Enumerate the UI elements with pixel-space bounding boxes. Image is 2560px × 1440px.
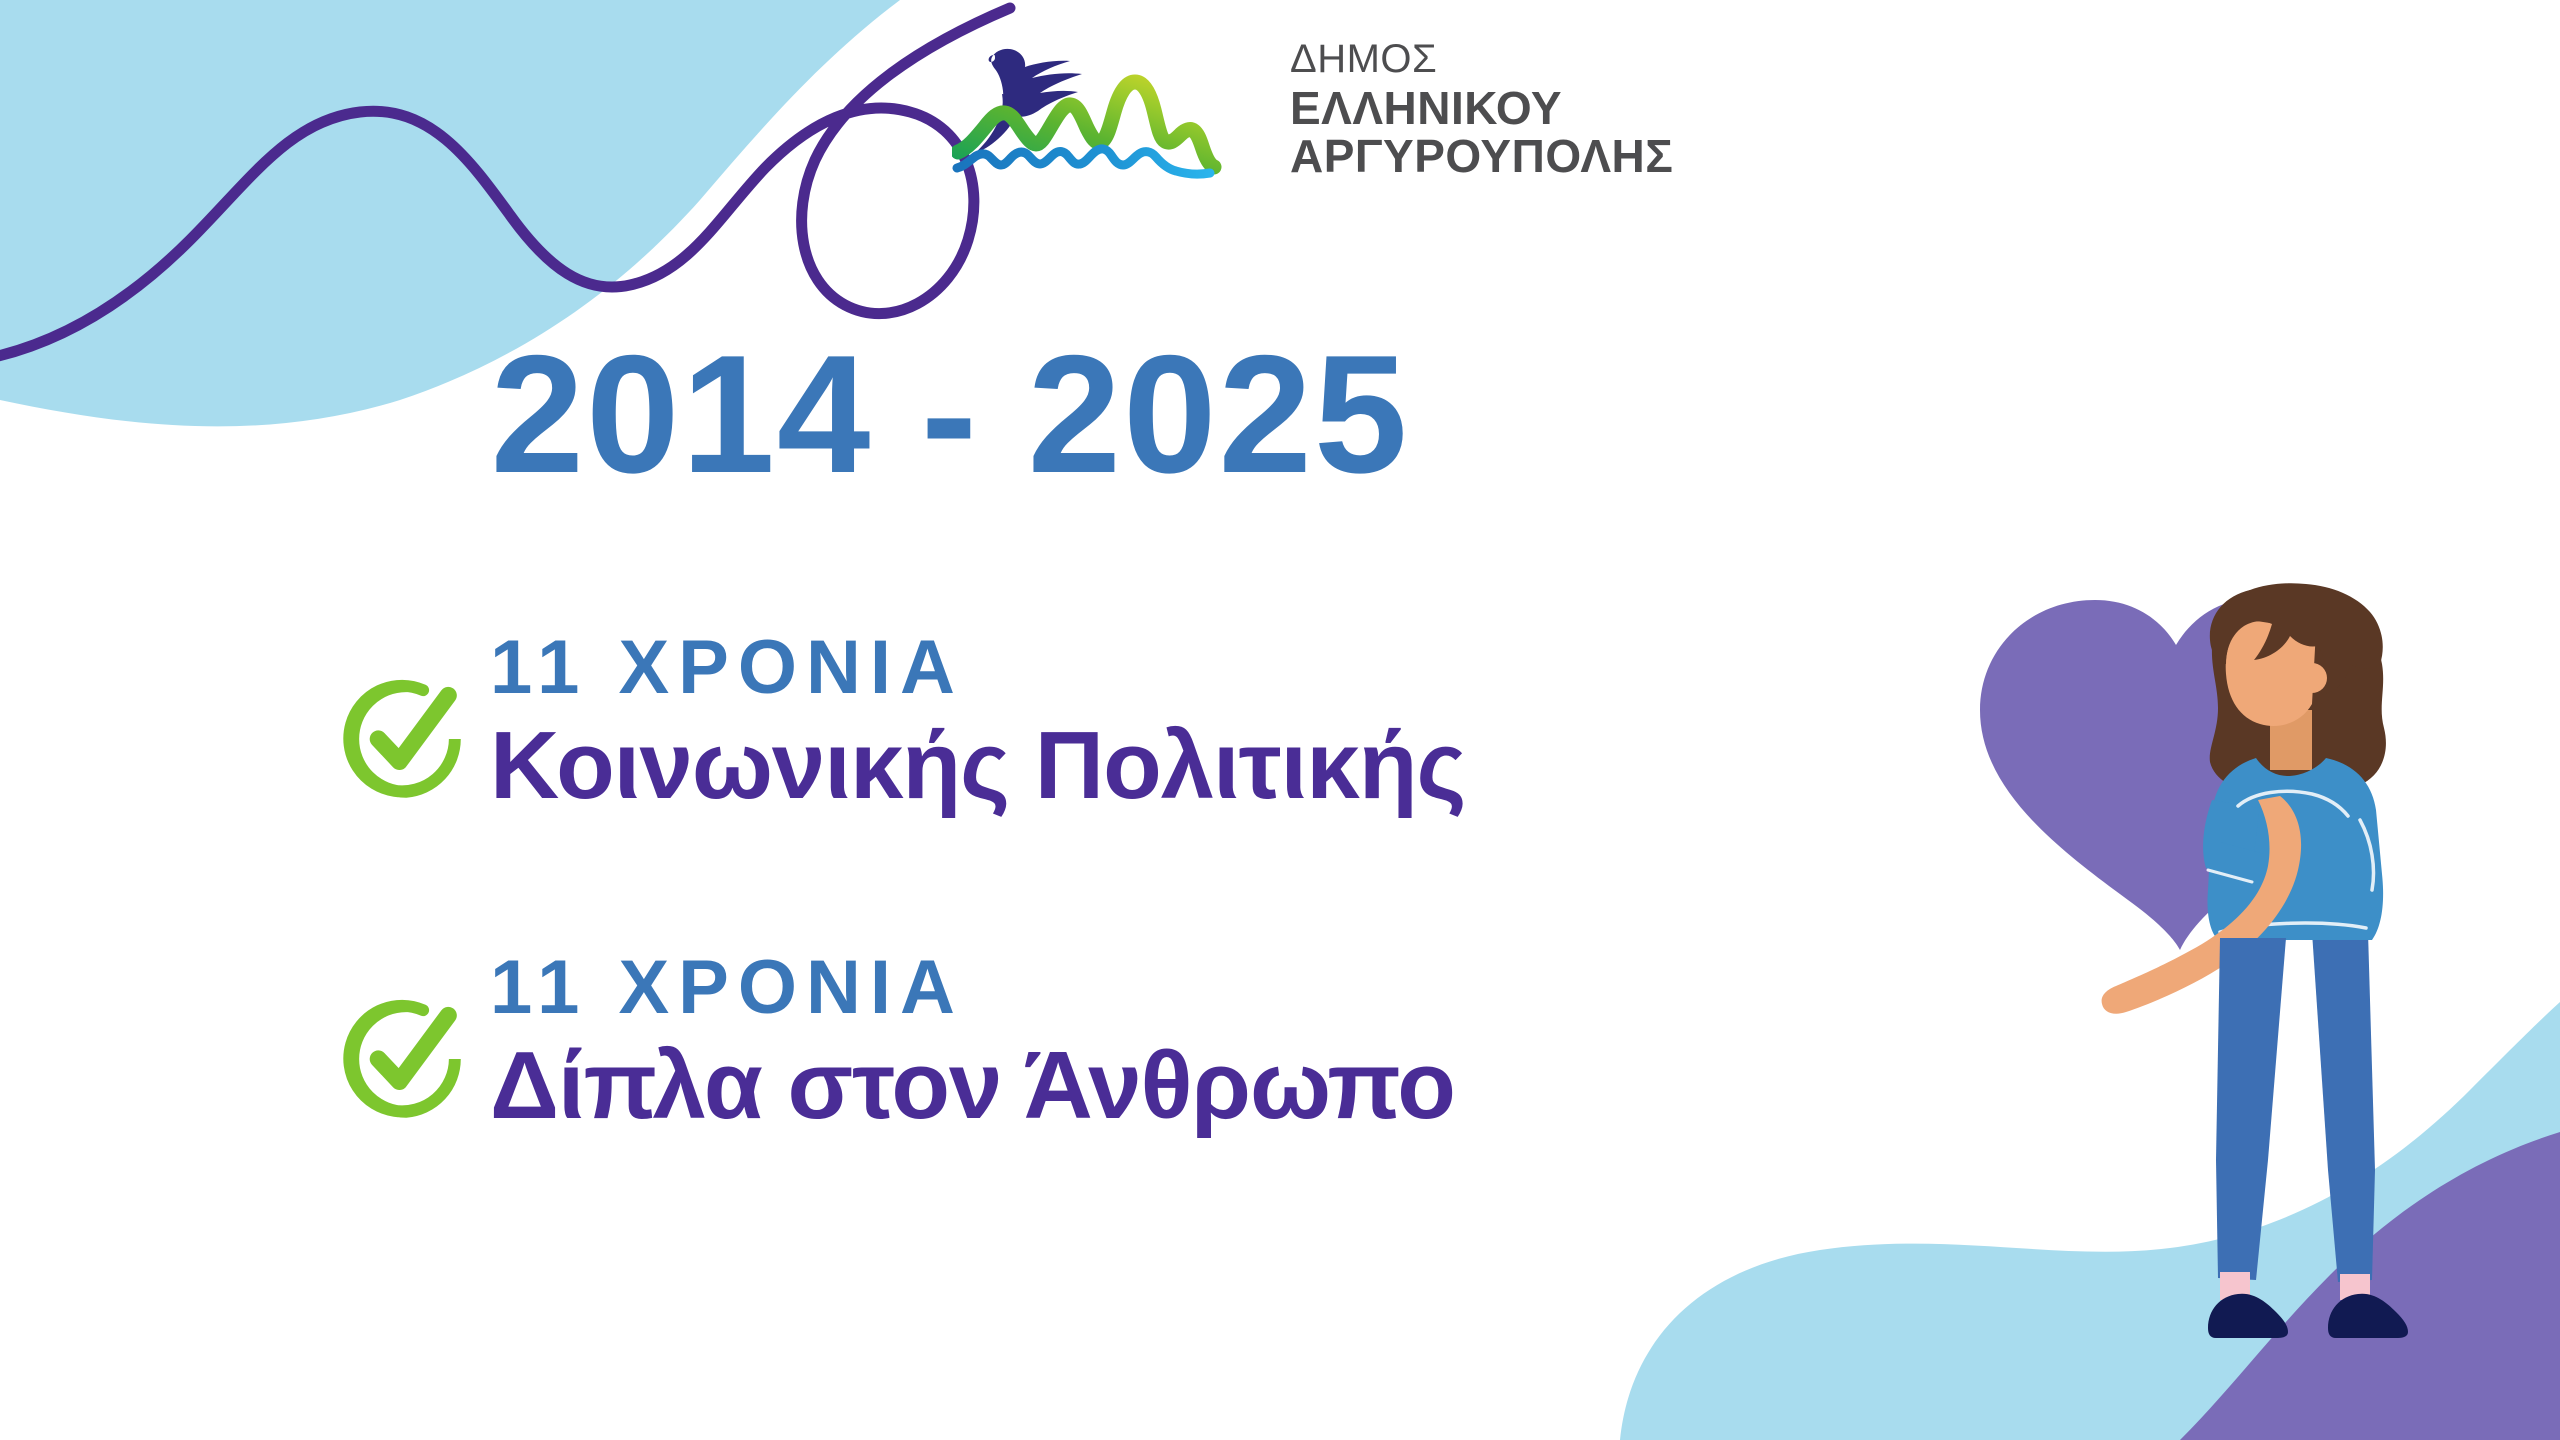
pants-front-leg — [2216, 938, 2286, 1280]
green-check-circle-icon — [340, 673, 472, 805]
woman-holding-heart-illustration — [1920, 470, 2560, 1370]
logo-wordmark: ΔΗΜΟΣ ΕΛΛΗΝΙΚΟΥ ΑΡΓΥΡΟΥΠΟΛΗΣ — [1290, 39, 1673, 179]
bullet-row: 11 ΧΡΟΝΙΑ Δίπλα στον Άνθρωπο — [340, 950, 1455, 1134]
water-wave-icon — [957, 149, 1210, 174]
bullet-main-line: Δίπλα στον Άνθρωπο — [490, 1038, 1455, 1134]
bullet-row: 11 ΧΡΟΝΙΑ Κοινωνικής Πολιτικής — [340, 630, 1465, 814]
years-headline: 2014 - 2025 — [0, 330, 1900, 498]
shoe-right — [2328, 1294, 2408, 1338]
logo-line-ellinikou: ΕΛΛΗΝΙΚΟΥ — [1290, 85, 1673, 131]
shoe-left — [2208, 1294, 2288, 1338]
poster-canvas: ΔΗΜΟΣ ΕΛΛΗΝΙΚΟΥ ΑΡΓΥΡΟΥΠΟΛΗΣ 2014 - 2025… — [0, 0, 2560, 1440]
bullet-top-line: 11 ΧΡΟΝΙΑ — [490, 630, 1465, 706]
bullet-main-line: Κοινωνικής Πολιτικής — [490, 718, 1465, 814]
logo-line-dimos: ΔΗΜΟΣ — [1290, 39, 1673, 79]
pants-back-leg — [2312, 932, 2375, 1282]
green-check-circle-icon — [340, 993, 472, 1125]
bullet-text: 11 ΧΡΟΝΙΑ Δίπλα στον Άνθρωπο — [490, 950, 1455, 1134]
bullet-top-line: 11 ΧΡΟΝΙΑ — [490, 950, 1455, 1026]
municipality-logo: ΔΗΜΟΣ ΕΛΛΗΝΙΚΟΥ ΑΡΓΥΡΟΥΠΟΛΗΣ — [952, 34, 1672, 184]
logo-line-argyroupolis: ΑΡΓΥΡΟΥΠΟΛΗΣ — [1290, 133, 1673, 179]
dove-mountains-wave-logo-icon — [952, 34, 1268, 184]
ear — [2297, 663, 2327, 693]
bullet-text: 11 ΧΡΟΝΙΑ Κοινωνικής Πολιτικής — [490, 630, 1465, 814]
